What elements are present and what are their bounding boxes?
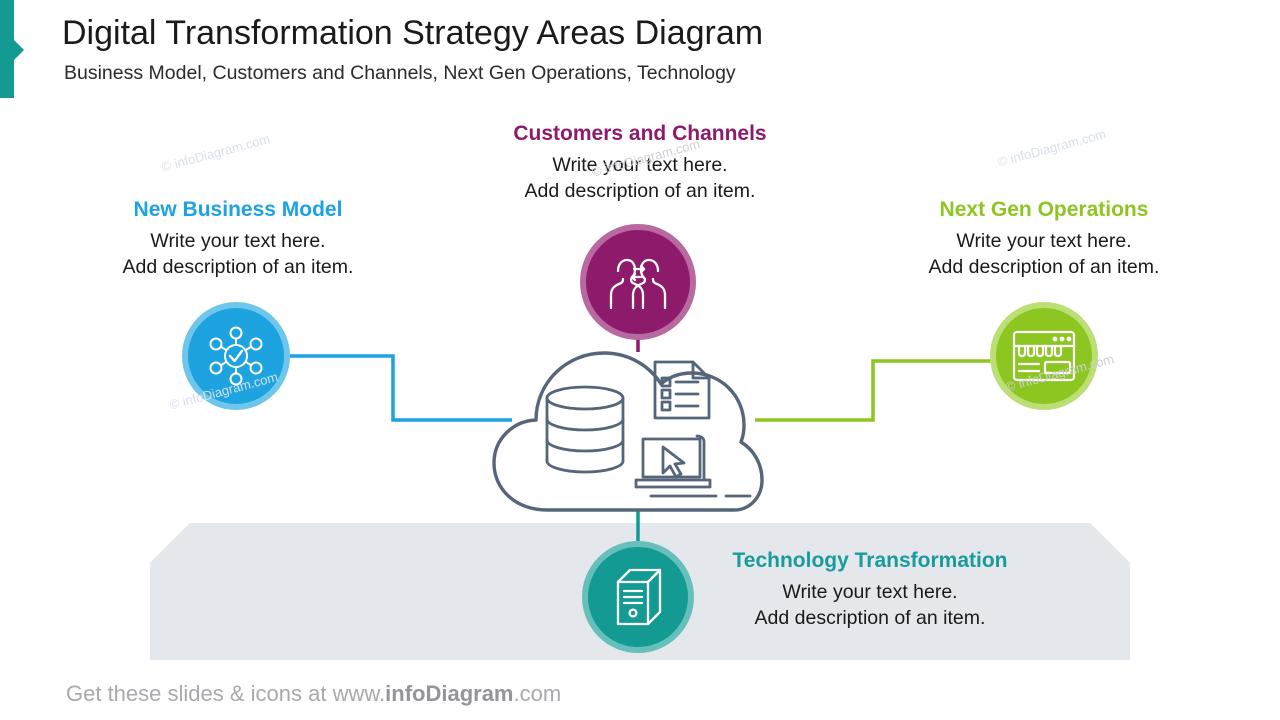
connector-business: [288, 356, 512, 420]
node-technology-transformation[interactable]: [582, 541, 694, 653]
slide-canvas: Digital Transformation Strategy Areas Di…: [0, 0, 1280, 720]
text-block-technology-transformation: Technology Transformation Write your tex…: [714, 549, 1026, 632]
body-line-2-business: Add description of an item.: [88, 254, 388, 280]
body-line-1-operations: Write your text here.: [890, 228, 1198, 254]
heading-technology-transformation: Technology Transformation: [714, 549, 1026, 573]
two-people-exchange-icon: [604, 253, 672, 311]
node-next-gen-operations[interactable]: [990, 302, 1098, 410]
connector-operations: [755, 361, 994, 420]
text-block-next-gen-operations: Next Gen Operations Write your text here…: [890, 198, 1198, 281]
cloud-graphic: [488, 335, 768, 520]
body-line-2-operations: Add description of an item.: [890, 254, 1198, 280]
body-line-2-customers: Add description of an item.: [484, 178, 796, 204]
body-line-2-technology: Add description of an item.: [714, 605, 1026, 631]
footer-credit: Get these slides & icons at www.infoDiag…: [66, 681, 561, 707]
footer-suffix: .com: [514, 681, 562, 706]
heading-customers-and-channels: Customers and Channels: [484, 122, 796, 146]
cloud-outline: [494, 353, 762, 510]
footer-prefix: Get these slides & icons at www.: [66, 681, 385, 706]
text-block-new-business-model: New Business Model Write your text here.…: [88, 198, 388, 281]
heading-next-gen-operations: Next Gen Operations: [890, 198, 1198, 222]
body-line-1-technology: Write your text here.: [714, 579, 1026, 605]
node-customers-and-channels[interactable]: [580, 224, 696, 340]
heading-new-business-model: New Business Model: [88, 198, 388, 222]
footer-brand: infoDiagram: [385, 681, 513, 706]
server-tower-icon: [609, 564, 667, 630]
body-line-1-business: Write your text here.: [88, 228, 388, 254]
